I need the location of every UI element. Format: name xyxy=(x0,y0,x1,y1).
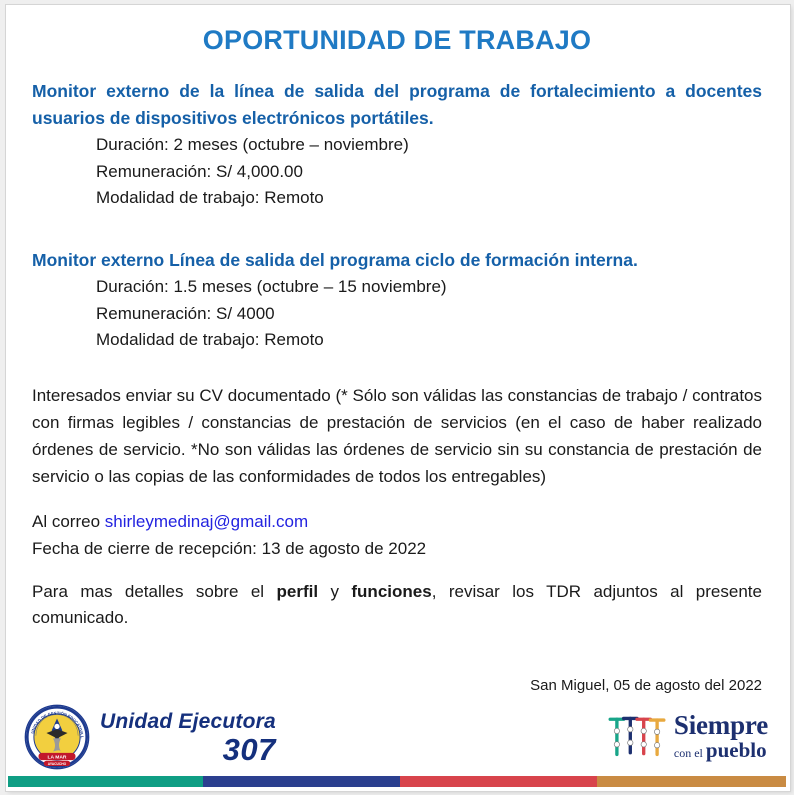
siempre-figures-icon xyxy=(606,710,668,762)
siempre-line-1: Siempre xyxy=(674,712,768,739)
footer-color-bar xyxy=(8,776,786,787)
tdr-note-bold-funciones: funciones xyxy=(351,582,431,601)
tdr-note-part1: Para mas detalles sobre el xyxy=(32,582,264,601)
ugel-line-2: 307 xyxy=(100,734,276,765)
detail-item: Remuneración: S/ 4,000.00 xyxy=(96,159,762,185)
color-bar-segment-blue xyxy=(203,776,400,787)
tdr-note: Para mas detalles sobre el perfil y func… xyxy=(32,579,762,633)
siempre-line-2-small: con el xyxy=(674,746,703,760)
ugel-seal-icon: UNIDAD DE GESTIÓN EDUCATIVA LOCAL LA MAR… xyxy=(24,704,90,770)
position-details-2: Duración: 1.5 meses (octubre – 15 noviem… xyxy=(32,274,762,353)
email-link[interactable]: shirleymedinaj@gmail.com xyxy=(105,512,308,531)
siempre-line-2: con el pueblo xyxy=(674,740,768,761)
ugel-logo-group: UNIDAD DE GESTIÓN EDUCATIVA LOCAL LA MAR… xyxy=(24,704,276,770)
page-title: OPORTUNIDAD DE TRABAJO xyxy=(32,25,762,56)
ugel-wordmark: Unidad Ejecutora 307 xyxy=(100,709,276,765)
detail-item: Modalidad de trabajo: Remoto xyxy=(96,327,762,353)
ugel-line-1: Unidad Ejecutora xyxy=(100,711,276,732)
email-line: Al correo shirleymedinaj@gmail.com xyxy=(32,509,762,536)
detail-item: Duración: 2 meses (octubre – noviembre) xyxy=(96,132,762,158)
position-heading-1: Monitor externo de la línea de salida de… xyxy=(32,78,762,132)
siempre-logo-group: Siempre con el pueblo xyxy=(606,710,768,762)
tdr-note-bold-perfil: perfil xyxy=(276,582,318,601)
position-heading-2: Monitor externo Línea de salida del prog… xyxy=(32,247,762,274)
email-label: Al correo xyxy=(32,512,100,531)
poster-page: OPORTUNIDAD DE TRABAJO Monitor externo d… xyxy=(0,0,794,795)
siempre-wordmark: Siempre con el pueblo xyxy=(674,712,768,761)
place-and-date: San Miguel, 05 de agosto del 2022 xyxy=(32,677,762,694)
poster-content: OPORTUNIDAD DE TRABAJO Monitor externo d… xyxy=(8,7,786,709)
color-bar-segment-teal xyxy=(8,776,203,787)
siempre-line-2-bold: pueblo xyxy=(706,738,767,762)
requirements-paragraph: Interesados enviar su CV documentado (* … xyxy=(32,383,762,490)
detail-item: Remuneración: S/ 4000 xyxy=(96,301,762,327)
position-details-1: Duración: 2 meses (octubre – noviembre) … xyxy=(32,132,762,211)
detail-item: Modalidad de trabajo: Remoto xyxy=(96,185,762,211)
position-block-2: Monitor externo Línea de salida del prog… xyxy=(32,247,762,353)
svg-text:AYACUCHO: AYACUCHO xyxy=(48,762,67,766)
color-bar-segment-orange xyxy=(597,776,786,787)
content-card: OPORTUNIDAD DE TRABAJO Monitor externo d… xyxy=(8,7,786,780)
detail-item: Duración: 1.5 meses (octubre – 15 noviem… xyxy=(96,274,762,300)
deadline-line: Fecha de cierre de recepción: 13 de agos… xyxy=(32,536,762,563)
svg-text:LA MAR: LA MAR xyxy=(47,754,66,760)
position-block-1: Monitor externo de la línea de salida de… xyxy=(32,78,762,211)
tdr-note-part2: y xyxy=(330,582,339,601)
color-bar-segment-red xyxy=(400,776,597,787)
footer: UNIDAD DE GESTIÓN EDUCATIVA LOCAL LA MAR… xyxy=(8,700,786,780)
